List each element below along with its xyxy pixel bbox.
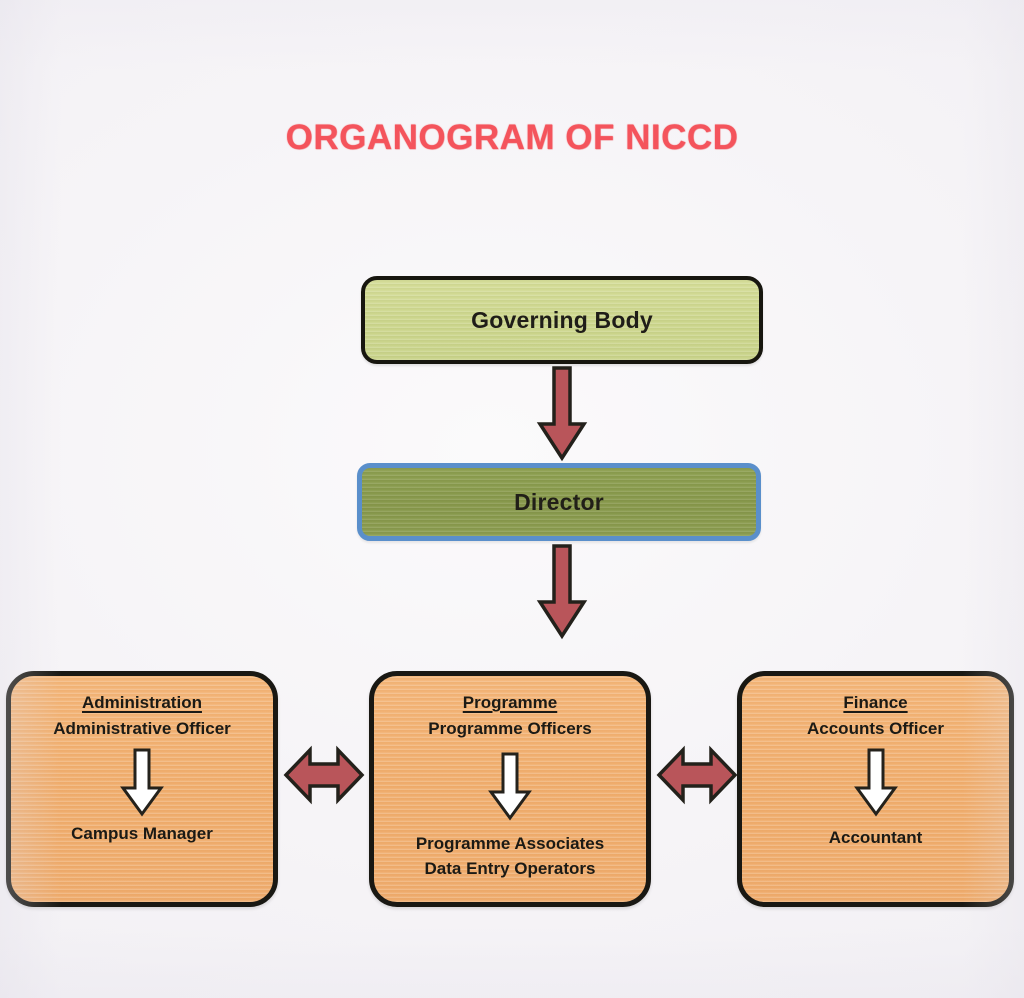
page-title: ORGANOGRAM OF NICCD xyxy=(0,118,1024,158)
finance-heading: Finance xyxy=(843,692,907,713)
finance-subordinate: Accountant xyxy=(829,826,923,851)
organogram-canvas: ORGANOGRAM OF NICCD Governing Body Direc… xyxy=(0,0,1024,998)
programme-box[interactable]: Programme Programme Officers Programme A… xyxy=(369,671,651,907)
administration-subordinate: Campus Manager xyxy=(71,822,213,847)
programme-heading: Programme xyxy=(463,692,557,713)
connector-governing-to-director-icon xyxy=(534,366,590,462)
governing-body-box[interactable]: Governing Body xyxy=(361,276,763,364)
governing-body-label: Governing Body xyxy=(471,307,653,334)
programme-down-arrow-icon xyxy=(487,752,533,822)
director-box[interactable]: Director xyxy=(357,463,761,541)
director-label: Director xyxy=(514,489,604,516)
administration-role: Administrative Officer xyxy=(53,718,231,740)
finance-down-arrow-icon xyxy=(853,748,899,818)
programme-subordinate-1: Programme Associates xyxy=(416,832,604,857)
connector-programme-finance-icon xyxy=(656,744,738,806)
administration-down-arrow-icon xyxy=(119,748,165,818)
programme-role: Programme Officers xyxy=(428,718,591,740)
connector-admin-programme-icon xyxy=(283,744,365,806)
administration-box[interactable]: Administration Administrative Officer Ca… xyxy=(6,671,278,907)
finance-role: Accounts Officer xyxy=(807,718,944,740)
administration-heading: Administration xyxy=(82,692,202,713)
connector-director-to-units-icon xyxy=(534,544,590,640)
programme-subordinate-2: Data Entry Operators xyxy=(425,857,596,882)
finance-box[interactable]: Finance Accounts Officer Accountant xyxy=(737,671,1014,907)
